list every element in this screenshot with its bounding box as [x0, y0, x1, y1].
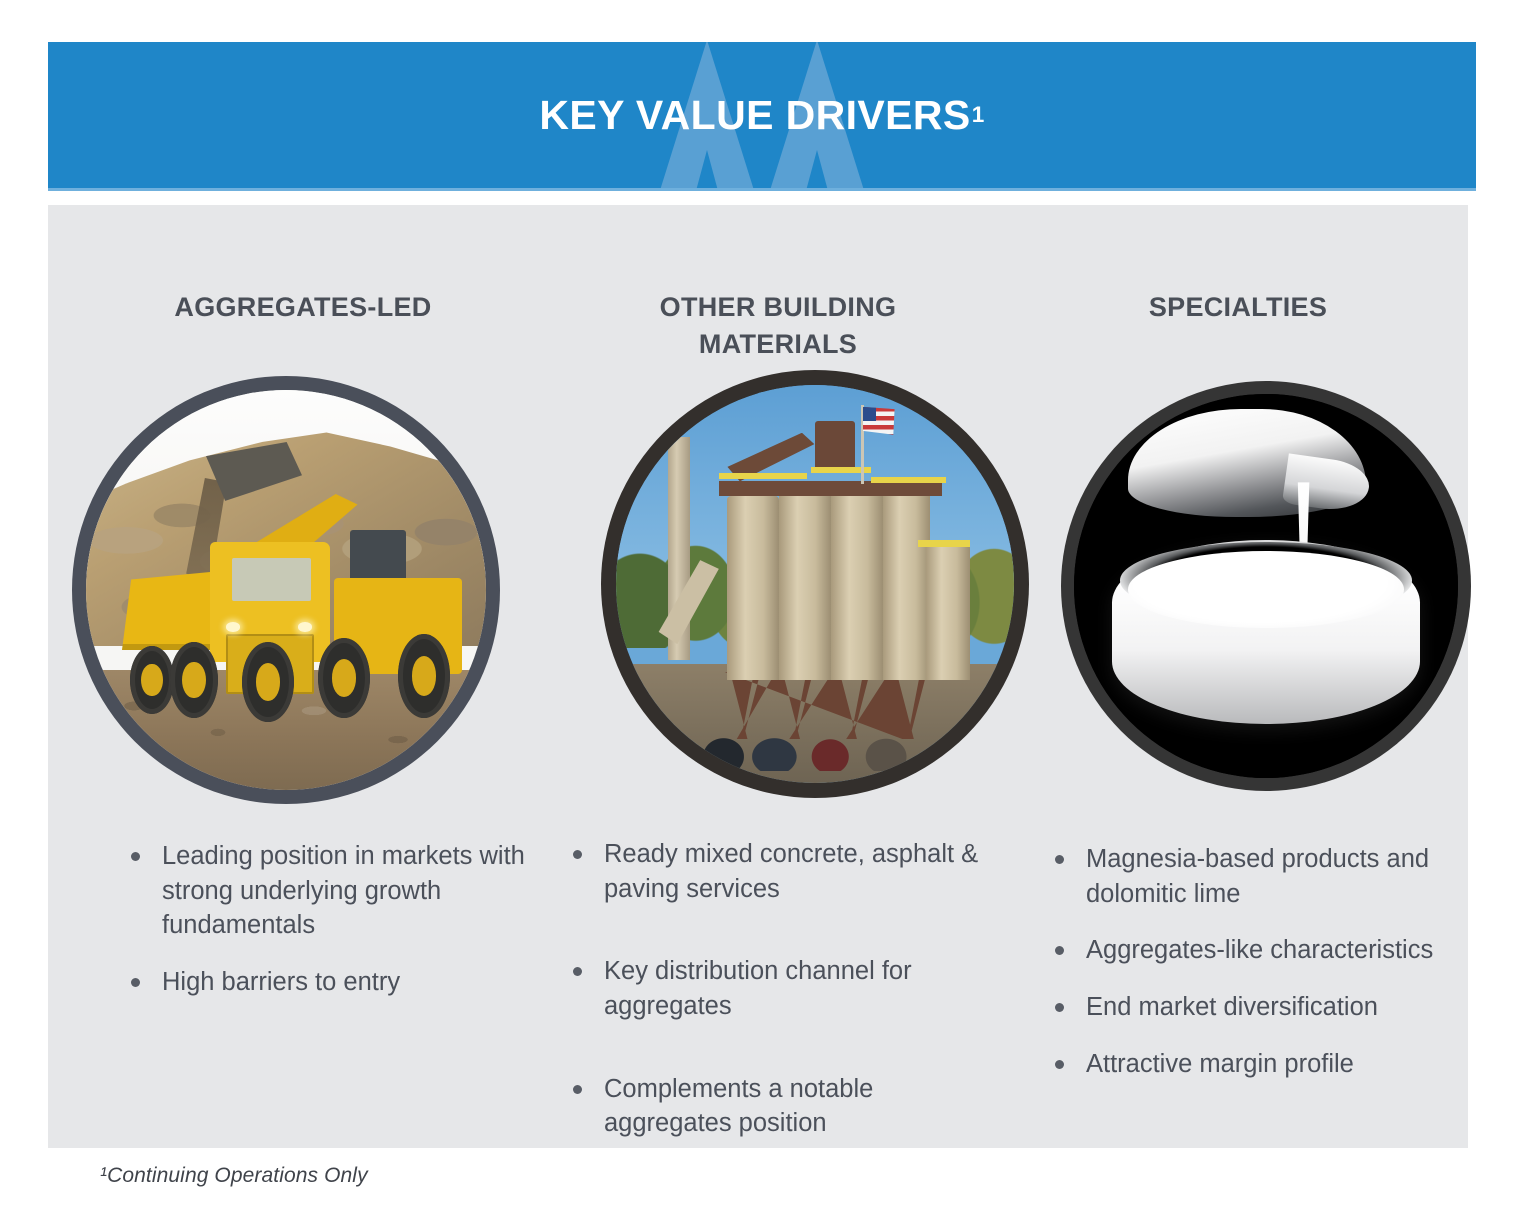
- list-item-text: Attractive margin profile: [1086, 1047, 1464, 1082]
- headlight-icon: [226, 622, 240, 632]
- column-heading-other-building-materials: OTHER BUILDING MATERIALS: [538, 289, 1018, 364]
- list-item: Leading position in markets with strong …: [126, 839, 546, 943]
- list-item-text: Complements a notable aggregates positio…: [604, 1072, 1006, 1141]
- plant-silo: [883, 492, 931, 679]
- asphalt-plant-illustration: [616, 385, 1014, 783]
- plant-yellow-railing: [918, 540, 970, 546]
- truck-wheel: [242, 642, 294, 722]
- bullet-dot-icon: [131, 852, 140, 861]
- footnote: ¹Continuing Operations Only: [100, 1164, 368, 1188]
- list-item-text: Ready mixed concrete, asphalt & paving s…: [604, 837, 1006, 906]
- bullet-dot-icon: [1055, 855, 1064, 864]
- bullet-dot-icon: [1055, 1003, 1064, 1012]
- column-other-building-materials: OTHER BUILDING MATERIALS: [538, 205, 1018, 1148]
- list-item-text: High barriers to entry: [162, 965, 546, 1000]
- list-item: Key distribution channel for aggregates: [568, 954, 1006, 1023]
- plant-silo: [926, 544, 970, 679]
- plant-silo: [779, 488, 831, 679]
- plant-deck: [719, 481, 942, 497]
- bullet-dot-icon: [131, 978, 140, 987]
- bullet-dot-icon: [573, 1085, 582, 1094]
- bullet-dot-icon: [573, 850, 582, 859]
- page-title-text: KEY VALUE DRIVERS: [539, 92, 970, 139]
- header-underline: [48, 188, 1476, 191]
- bullet-dot-icon: [1055, 1060, 1064, 1069]
- list-item-text: Leading position in markets with strong …: [162, 839, 546, 943]
- slurry-pool: [1128, 551, 1404, 628]
- plant-silo: [727, 496, 779, 679]
- list-item: High barriers to entry: [126, 965, 546, 1000]
- list-item: Aggregates-like characteristics: [1050, 933, 1464, 968]
- column-heading-specialties: SPECIALTIES: [1008, 289, 1468, 326]
- parked-vehicles: [688, 735, 943, 771]
- bullet-list-aggregates-led: Leading position in markets with strong …: [48, 839, 558, 1000]
- list-item-text: End market diversification: [1086, 990, 1464, 1025]
- list-item: End market diversification: [1050, 990, 1464, 1025]
- photo-magnesia-slurry: [1061, 381, 1471, 791]
- american-flag-icon: [863, 407, 895, 435]
- photo-magnesia-slurry-image: [1074, 394, 1458, 778]
- truck-wheel: [170, 642, 218, 718]
- header-banner: KEY VALUE DRIVERS1: [48, 42, 1476, 188]
- slurry-pour-illustration: [1074, 394, 1458, 778]
- content-panel: AGGREGATES-LED: [48, 205, 1468, 1148]
- photo-asphalt-plant-image: [616, 385, 1014, 783]
- list-item: Complements a notable aggregates positio…: [568, 1072, 1006, 1141]
- truck-wheel: [130, 646, 174, 714]
- plant-yellow-railing: [871, 477, 947, 483]
- plant-silo: [831, 488, 883, 679]
- photo-quarry-dump-truck: [72, 376, 500, 804]
- page-title: KEY VALUE DRIVERS1: [48, 42, 1476, 188]
- photo-quarry-dump-truck-image: [86, 390, 486, 790]
- bullet-list-specialties: Magnesia-based products and dolomitic li…: [1008, 842, 1468, 1081]
- list-item: Magnesia-based products and dolomitic li…: [1050, 842, 1464, 911]
- column-specialties: SPECIALTIES Magnesia-based products and …: [1008, 205, 1468, 1148]
- plant-yellow-railing: [719, 473, 807, 479]
- loader-wheel: [318, 638, 370, 718]
- loader-wheel: [398, 634, 450, 718]
- column-aggregates-led: AGGREGATES-LED: [48, 205, 558, 1148]
- slurry-splash: [1281, 578, 1316, 609]
- photo-asphalt-plant: [601, 370, 1029, 798]
- list-item-text: Aggregates-like characteristics: [1086, 933, 1464, 968]
- bullet-dot-icon: [1055, 946, 1064, 955]
- headlight-icon: [298, 622, 312, 632]
- list-item: Ready mixed concrete, asphalt & paving s…: [568, 837, 1006, 906]
- plant-mixer-tower: [815, 421, 855, 473]
- column-heading-aggregates-led: AGGREGATES-LED: [48, 289, 558, 326]
- bullet-dot-icon: [573, 967, 582, 976]
- list-item: Attractive margin profile: [1050, 1047, 1464, 1082]
- list-item-text: Magnesia-based products and dolomitic li…: [1086, 842, 1464, 911]
- quarry-scene-illustration: [86, 390, 486, 790]
- list-item-text: Key distribution channel for aggregates: [604, 954, 1006, 1023]
- bullet-list-other-building-materials: Ready mixed concrete, asphalt & paving s…: [538, 837, 1018, 1141]
